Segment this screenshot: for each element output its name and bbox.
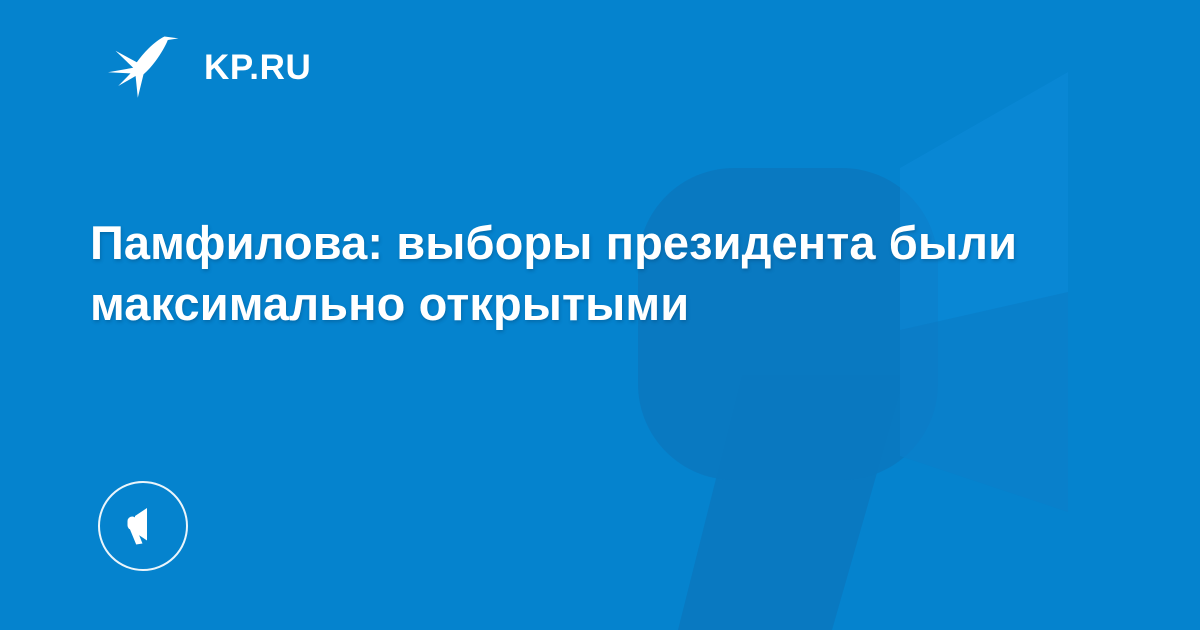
page-title: Памфилова: выборы президента были максим… <box>90 212 1050 334</box>
social-share-card: KP.RU Памфилова: выборы президента были … <box>0 0 1200 630</box>
megaphone-badge <box>98 481 188 571</box>
brand-header: KP.RU <box>104 34 311 100</box>
brand-name: KP.RU <box>204 50 311 85</box>
swallow-bird-logo-icon <box>104 34 182 100</box>
megaphone-icon <box>121 504 165 548</box>
